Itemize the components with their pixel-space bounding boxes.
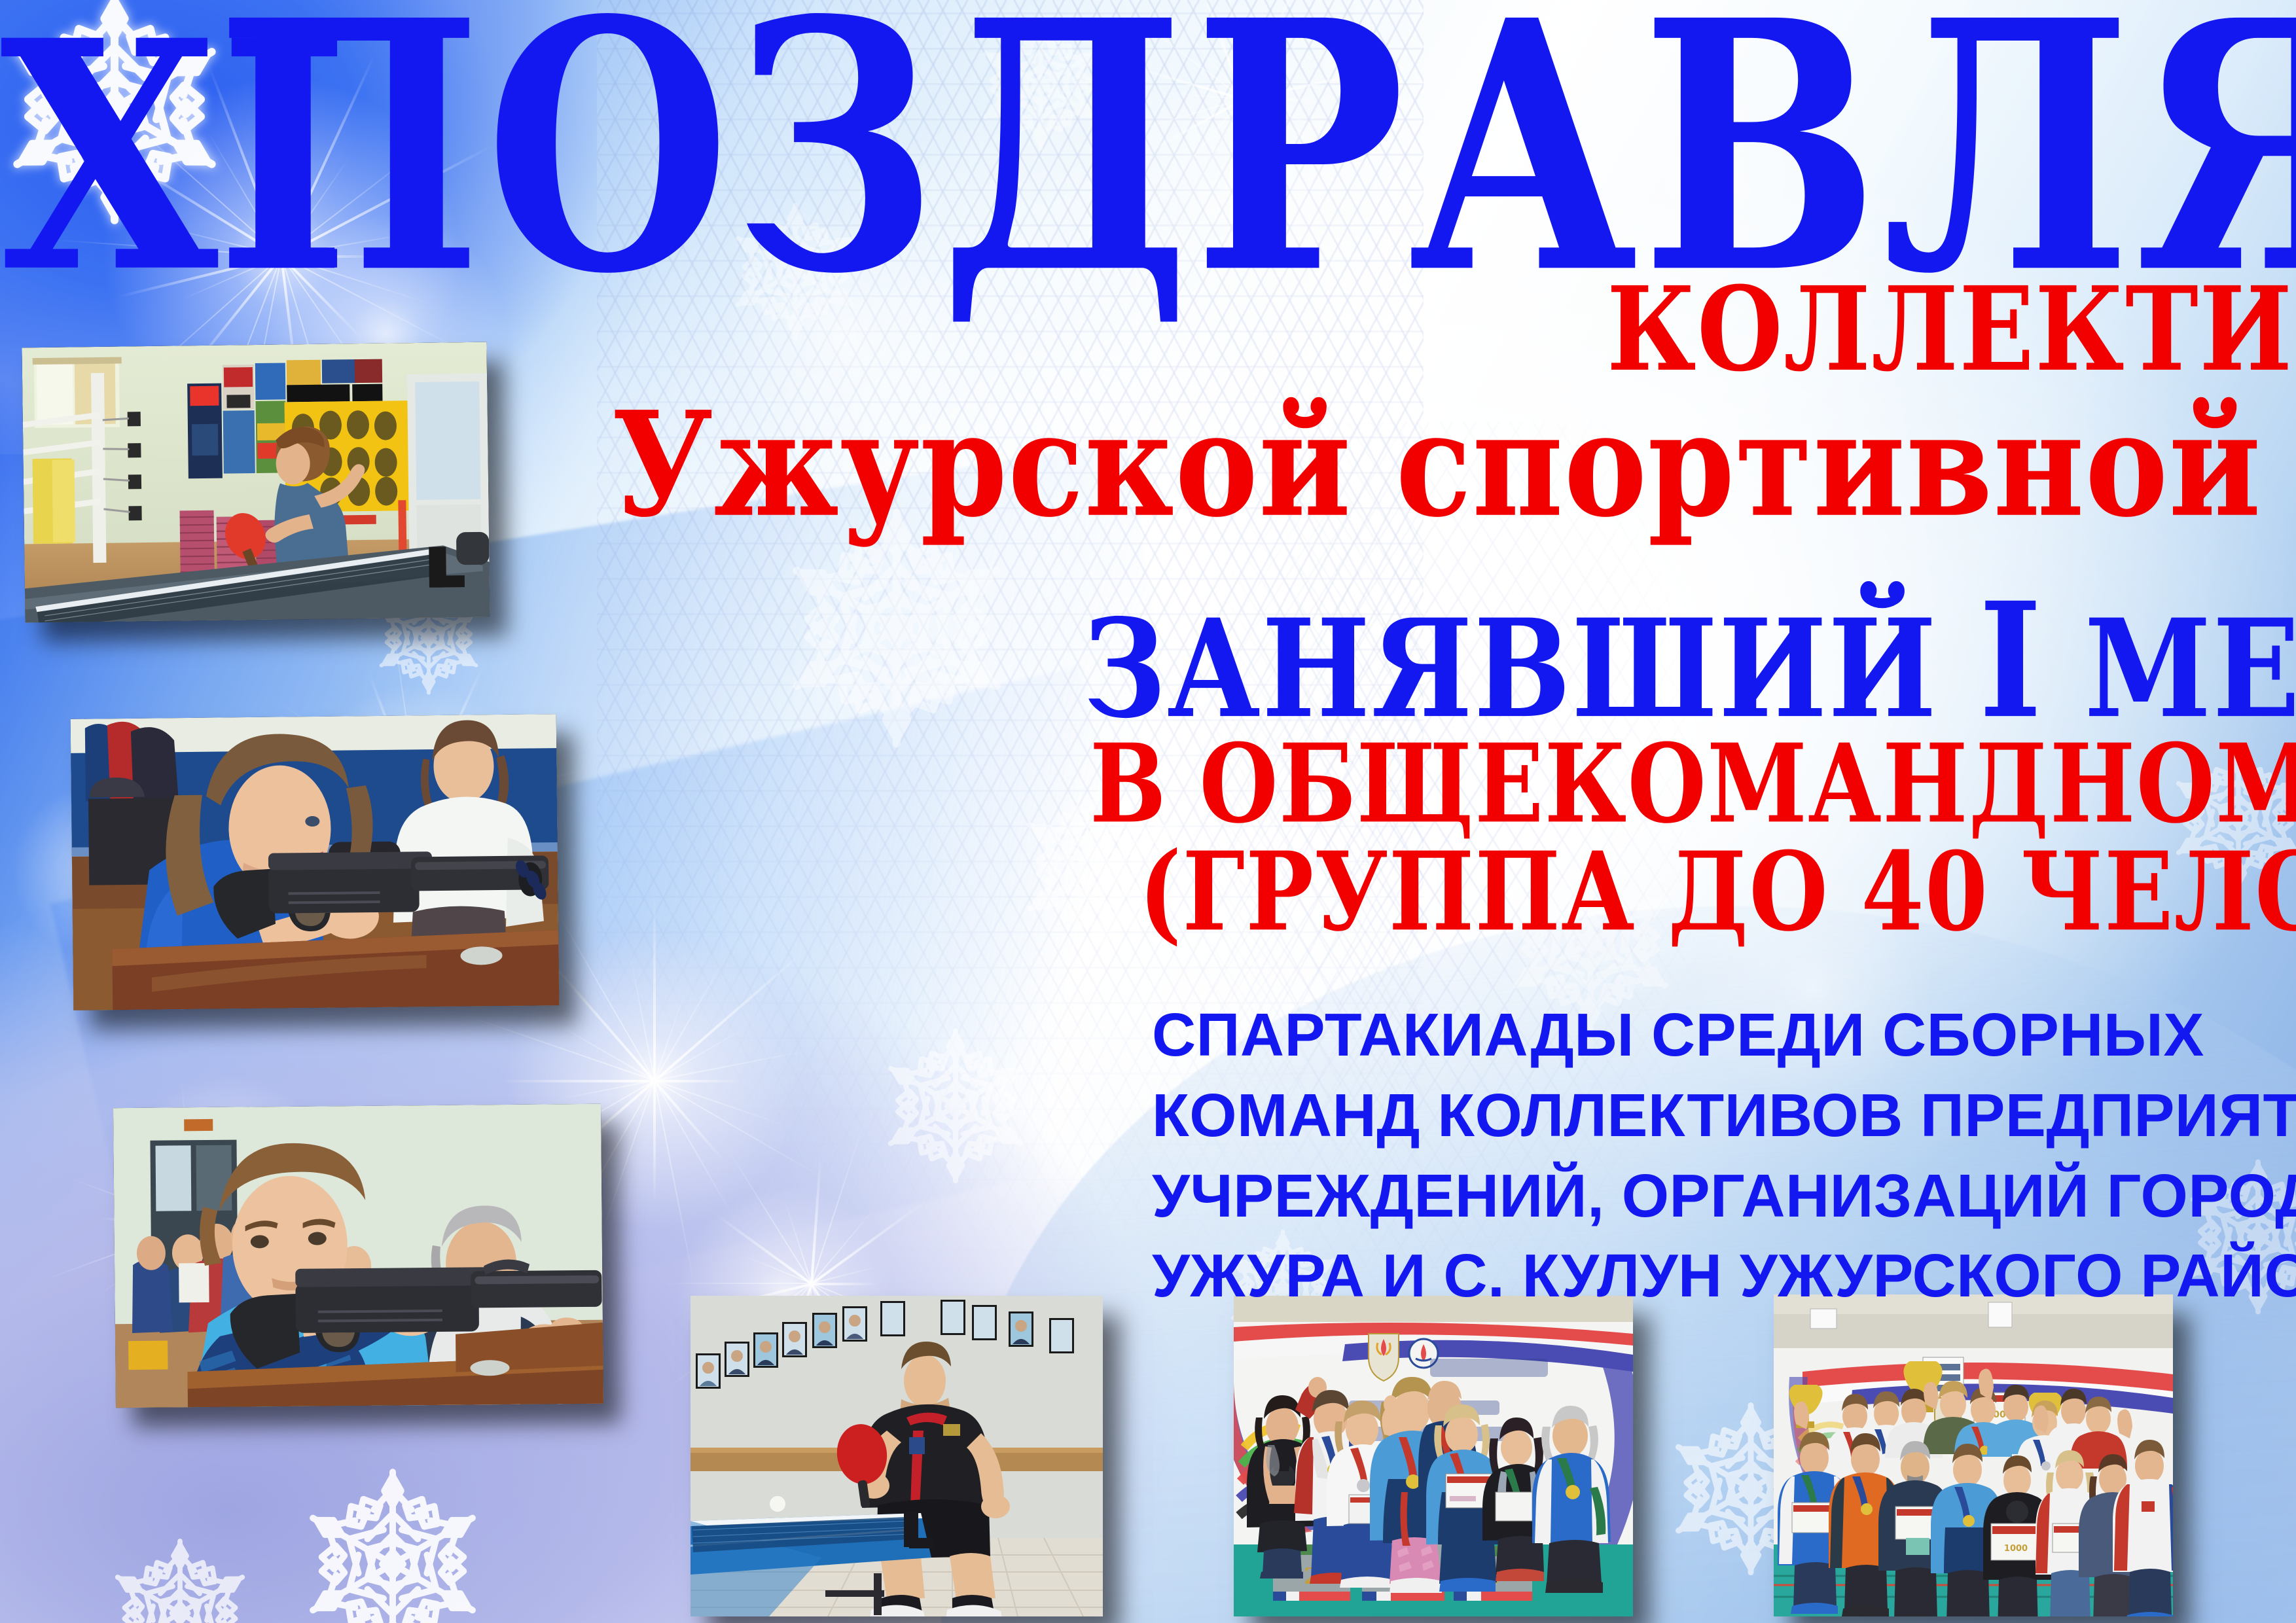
achievement-group: (ГРУППА ДО 40 ЧЕЛОВЕК) — [1139, 838, 2296, 946]
photo-table-tennis-man — [691, 1296, 1103, 1616]
poster-canvas: 2 1 3 — [0, 0, 2296, 1623]
subject-line-2: Ужурской спортивной школы — [612, 393, 2296, 537]
event-description: СПАРТАКИАДЫ СРЕДИ СБОРНЫХ КОМАНД КОЛЛЕКТ… — [1152, 995, 2258, 1316]
event-line: КОМАНД КОЛЛЕКТИВОВ ПРЕДПРИЯТИЙ, — [1152, 1075, 2258, 1156]
achievement-detail: В ОБЩЕКОМАНДНОМ ЗАЧЕТЕ — [1090, 730, 2296, 838]
photo-woman-rifle — [71, 714, 560, 1010]
svg-text:1000: 1000 — [2004, 1544, 2028, 1554]
event-number: XI — [0, 0, 2296, 315]
photo-man-rifle — [113, 1104, 603, 1408]
photo-team-group: 2 1 — [1774, 1294, 2173, 1616]
event-line: СПАРТАКИАДЫ СРЕДИ СБОРНЫХ — [1152, 995, 2258, 1075]
event-line: УЖУРА И С. КУЛУН УЖУРСКОГО РАЙОНА — [1152, 1236, 2258, 1316]
photo-podium: 2 1 3 — [1234, 1296, 1633, 1616]
photo-table-tennis-boy — [22, 342, 490, 623]
event-line: УЧРЕЖДЕНИЙ, ОРГАНИЗАЦИЙ ГОРОДА — [1152, 1156, 2258, 1236]
achievement-line: ЗАНЯВШИЙ I МЕСТО — [1083, 582, 2296, 741]
